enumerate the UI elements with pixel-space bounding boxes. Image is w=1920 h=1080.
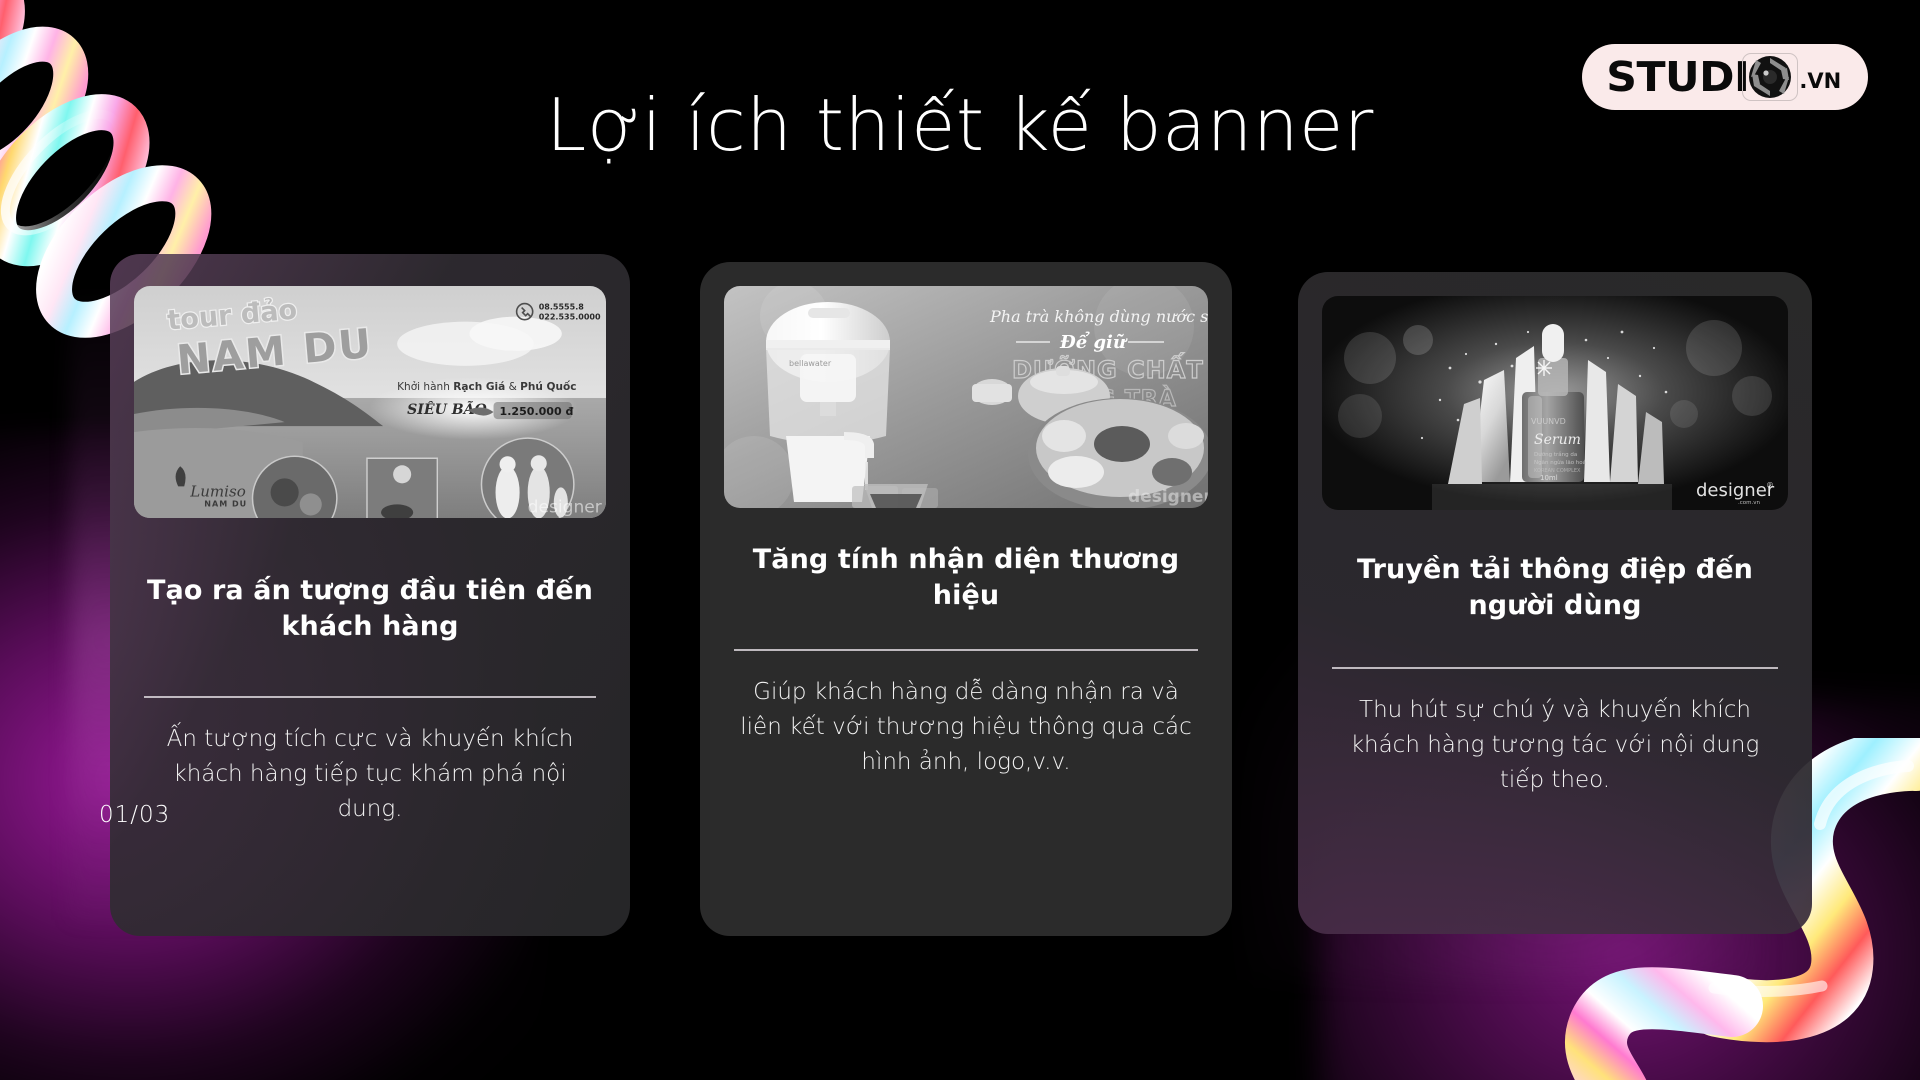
card-body-text: Thu hút sự chú ý và khuyến khích khách h… (1322, 693, 1788, 798)
thumb-headline: Pha trà không dùng nước s (989, 307, 1208, 326)
thumb-volume: 10ml (1540, 474, 1558, 482)
card-heading: Truyền tải thông điệp đến người dùng (1322, 552, 1788, 623)
thumb-divider-label: Để giữ (1059, 329, 1128, 353)
thumb-price: 1.250.000 đ (500, 405, 574, 418)
thumb-phone-1: 08.5555.8 (539, 303, 585, 312)
thumb-phone-2: 022.535.0000 (539, 313, 601, 322)
card-heading: Tăng tính nhận diện thương hiệu (724, 542, 1208, 613)
benefit-card-brand-awareness[interactable]: bellawater Pha trà không dùng nước s Để … (700, 262, 1232, 936)
card-thumbnail-may-loc-nuoc: bellawater Pha trà không dùng nước s Để … (724, 286, 1208, 508)
benefit-card-message-delivery[interactable]: VUUNVD Serum Dưỡng trắng da Ngăn ngừa lã… (1298, 272, 1812, 934)
thumb-brand-mark: Lumiso (189, 482, 246, 500)
page-indicator: 01/03 (99, 802, 170, 828)
card-heading: Tạo ra ấn tượng đầu tiên đến khách hàng (134, 573, 606, 644)
card-divider (1332, 667, 1778, 669)
logo-domain-suffix: .VN (1799, 69, 1841, 93)
benefit-card-first-impression[interactable]: tour đảo NAM DU Khởi hành Rạch Giá & Phú… (110, 254, 630, 936)
card-body-text: Ấn tượng tích cực và khuyến khích khách … (134, 722, 606, 827)
card-divider (144, 696, 596, 698)
svg-text:®: ® (1766, 481, 1774, 490)
thumb-subline: Khởi hành Rạch Giá & Phú Quốc (397, 380, 576, 393)
thumb-product-name: Serum (1534, 432, 1581, 448)
thumb-watermark: designer (528, 497, 603, 517)
card-body-text: Giúp khách hàng dễ dàng nhận ra và liên … (724, 675, 1208, 780)
logo-wordmark: STUDI (1606, 57, 1749, 98)
svg-text:Dưỡng trắng da: Dưỡng trắng da (1534, 451, 1577, 458)
card-thumbnail-tour-dao-nam-du: tour đảo NAM DU Khởi hành Rạch Giá & Phú… (134, 286, 606, 518)
thumb-watermark: designer (1128, 487, 1208, 507)
svg-text:Ngăn ngừa lão hoá: Ngăn ngừa lão hoá (1534, 459, 1586, 466)
thumb-brand-sub: NAM DU (204, 499, 247, 508)
thumb-watermark: designer (1696, 480, 1775, 501)
card-thumbnail-serum: VUUNVD Serum Dưỡng trắng da Ngăn ngừa lã… (1322, 296, 1788, 510)
thumb-product-label: bellawater (789, 359, 832, 368)
camera-aperture-icon (1744, 51, 1796, 103)
card-divider (734, 649, 1198, 651)
svg-text:VUUNVD: VUUNVD (1531, 417, 1566, 426)
studio-vn-logo[interactable]: STUDI .VN (1582, 44, 1868, 110)
thumb-watermark-sub: .com.vn (1738, 500, 1760, 506)
